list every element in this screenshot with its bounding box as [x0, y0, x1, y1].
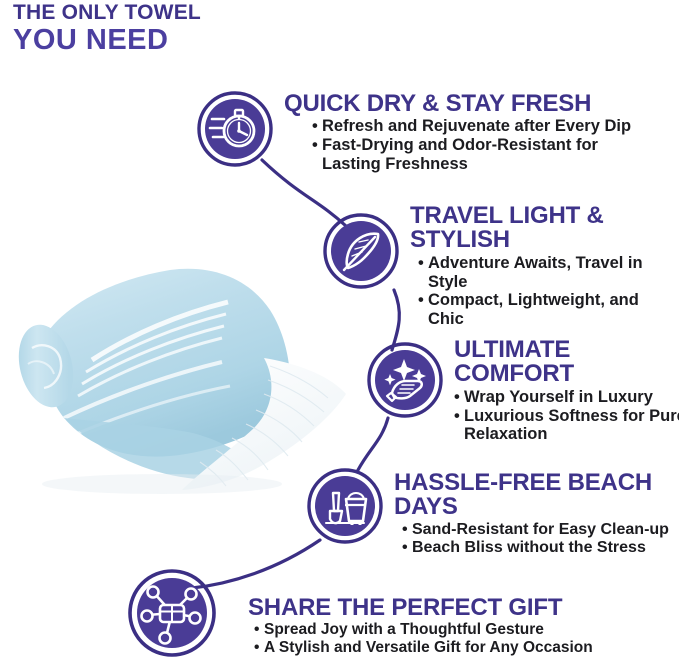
bullet-item: Adventure Awaits, Travel in Style — [418, 254, 670, 291]
sparkle-hand-icon — [366, 341, 444, 419]
feature-hassle-free-text: HASSLE-FREE BEACH DAYS Sand-Resistant fo… — [394, 471, 679, 557]
bullet-item: Luxurious Softness for Pure Relaxation — [454, 407, 679, 444]
connector-segment-3 — [358, 418, 388, 470]
page-title: THE ONLY TOWEL YOU NEED — [13, 2, 313, 55]
feature-ultimate-comfort-bullets: Wrap Yourself in Luxury Luxurious Softne… — [454, 388, 679, 444]
feature-share-gift-title: SHARE THE PERFECT GIFT — [248, 596, 678, 620]
feature-quick-dry-text: QUICK DRY & STAY FRESH Refresh and Rejuv… — [284, 92, 654, 173]
feature-share-gift-text: SHARE THE PERFECT GIFT Spread Joy with a… — [248, 596, 678, 656]
feature-share-gift-bullets: Spread Joy with a Thoughtful Gesture A S… — [248, 621, 678, 656]
headline-line-1: THE ONLY TOWEL — [13, 2, 313, 23]
bullet-item: Fast-Drying and Odor-Resistant for Lasti… — [312, 136, 654, 173]
feature-quick-dry-title: QUICK DRY & STAY FRESH — [284, 92, 654, 116]
bullet-item: A Stylish and Versatile Gift for Any Occ… — [254, 639, 678, 657]
bullet-item: Spread Joy with a Thoughtful Gesture — [254, 621, 678, 639]
bullet-item: Beach Bliss without the Stress — [402, 539, 679, 557]
feature-ultimate-comfort-text: ULTIMATE COMFORT Wrap Yourself in Luxury… — [454, 338, 679, 444]
feature-travel-light-title: TRAVEL LIGHT & STYLISH — [410, 204, 670, 253]
share-network-icon — [126, 567, 218, 659]
towel-shadow — [42, 474, 282, 494]
stopwatch-speed-icon — [196, 90, 274, 168]
headline-line-2: YOU NEED — [13, 26, 313, 55]
feature-hassle-free-title: HASSLE-FREE BEACH DAYS — [394, 471, 679, 520]
feature-travel-light-text: TRAVEL LIGHT & STYLISH Adventure Awaits,… — [410, 204, 670, 329]
bullet-item: Sand-Resistant for Easy Clean-up — [402, 521, 679, 539]
feather-icon — [322, 212, 400, 290]
feature-travel-light-bullets: Adventure Awaits, Travel in Style Compac… — [410, 254, 670, 329]
feature-hassle-free-bullets: Sand-Resistant for Easy Clean-up Beach B… — [394, 521, 679, 557]
product-photo-towel — [2, 238, 354, 508]
bullet-item: Wrap Yourself in Luxury — [454, 388, 679, 407]
feature-ultimate-comfort-title: ULTIMATE COMFORT — [454, 338, 679, 387]
bullet-item: Compact, Lightweight, and Chic — [418, 291, 670, 328]
infographic-page: THE ONLY TOWEL YOU NEED — [0, 0, 679, 660]
bucket-shovel-icon — [306, 467, 384, 545]
feature-quick-dry-bullets: Refresh and Rejuvenate after Every Dip F… — [284, 117, 654, 173]
bullet-item: Refresh and Rejuvenate after Every Dip — [312, 117, 654, 136]
